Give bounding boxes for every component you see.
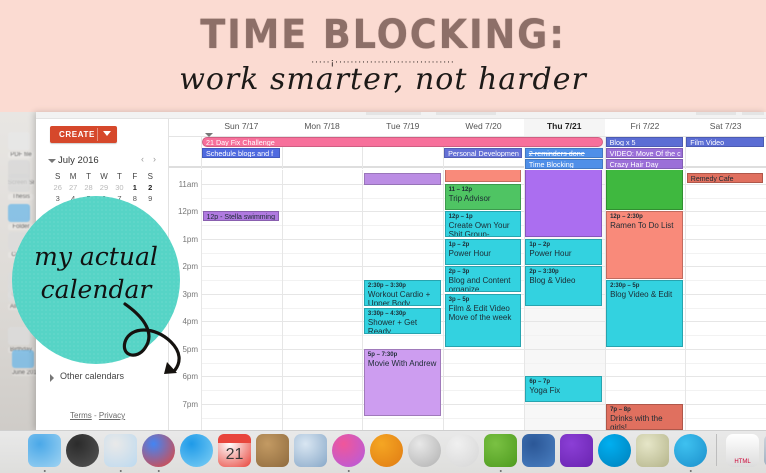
allday-event-6[interactable]: VIDEO: Move Of the c — [606, 148, 684, 158]
browser-tab-2[interactable] — [436, 112, 496, 115]
file-icon — [8, 204, 30, 222]
calendar-event-14[interactable]: 6p – 7pYoga Fix — [525, 376, 602, 402]
all-day-section[interactable]: 21 Day Fix ChallengeBlog x 5Film VideoSc… — [169, 136, 766, 168]
photos-app-icon[interactable] — [446, 434, 479, 467]
browser-tab-4[interactable] — [742, 112, 764, 115]
event-time: 11 – 12p — [449, 186, 519, 194]
calendar-event-15[interactable] — [606, 170, 683, 210]
contacts-icon[interactable] — [256, 434, 289, 467]
day-header-3[interactable]: Wed 7/20 — [443, 121, 524, 134]
allday-event-5[interactable]: 2 reminders done — [525, 148, 603, 158]
day-header-row: Sun 7/17Mon 7/18Tue 7/19Wed 7/20Thu 7/21… — [169, 119, 766, 136]
hour-gridline — [201, 349, 766, 350]
dock-running-indicator — [119, 470, 122, 473]
terms-link[interactable]: Terms — [70, 411, 92, 420]
event-title: Movie With Andrew — [368, 359, 438, 368]
mini-day-cell[interactable]: 28 — [81, 182, 96, 193]
mini-day-cell[interactable]: 2 — [143, 182, 158, 193]
allday-event-1[interactable]: Blog x 5 — [606, 137, 684, 147]
half-hour-gridline — [201, 363, 766, 364]
mini-weekday-1: M — [65, 171, 80, 182]
dock-running-indicator — [689, 470, 692, 473]
desktop-file-label: June 2016 — [12, 370, 38, 376]
chevron-down-icon — [103, 131, 111, 136]
event-title: Trip Advisor — [449, 194, 519, 203]
day-header-1[interactable]: Mon 7/18 — [282, 121, 363, 134]
create-button-label: CREATE — [59, 130, 95, 139]
footer-links: Terms - Privacy — [70, 411, 125, 420]
day-column-divider — [685, 170, 686, 430]
finder-icon[interactable] — [28, 434, 61, 467]
banner-title: TIME BLOCKING: — [31, 12, 736, 58]
imovie-icon[interactable] — [560, 434, 593, 467]
desktop-file-icon[interactable]: June 2016 — [12, 350, 38, 382]
day-header-0[interactable]: Sun 7/17 — [201, 121, 282, 134]
browser-tab-1[interactable] — [366, 112, 421, 115]
allday-event-0[interactable]: 21 Day Fix Challenge — [202, 137, 603, 147]
calendar-event-9[interactable]: 2p – 3pBlog and Content organize — [445, 266, 522, 292]
calendar-icon[interactable]: 21 — [218, 434, 251, 467]
privacy-link[interactable]: Privacy — [99, 411, 125, 420]
html-file-icon[interactable]: HTML — [726, 434, 759, 467]
day-header-4[interactable]: Thu 7/21 — [524, 121, 605, 134]
preview-icon[interactable] — [294, 434, 327, 467]
mini-weekday-3: W — [96, 171, 111, 182]
day-column-divider — [282, 170, 283, 430]
dock-running-indicator — [43, 470, 46, 473]
event-title: Power Hour — [449, 249, 519, 258]
mini-day-cell[interactable]: 27 — [65, 182, 80, 193]
event-title: Blog & Video — [529, 276, 599, 285]
calendar-event-11[interactable] — [525, 170, 602, 237]
event-title: Power Hour — [529, 249, 599, 258]
evernote-icon[interactable] — [484, 434, 517, 467]
file-icon — [12, 350, 34, 368]
event-title: Shower + Get Ready — [368, 318, 438, 334]
event-time: 2p – 3:30p — [529, 268, 599, 276]
event-title: Yoga Fix — [529, 386, 599, 395]
itunes-icon[interactable] — [332, 434, 365, 467]
calendar-event-16[interactable]: 12p – 2:30pRamen To Do List — [606, 211, 683, 278]
event-title: Blog Video & Edit — [610, 290, 680, 299]
mini-day-cell[interactable]: 26 — [50, 182, 65, 193]
mini-week-row: 262728293012 — [50, 182, 158, 193]
time-grid[interactable]: GMT-06 11am12pm1pm2pm3pm4pm5pm6pm7pm12p … — [169, 170, 766, 430]
file-icon — [8, 327, 30, 345]
allday-event-3[interactable]: Schedule blogs and f — [202, 148, 280, 158]
hour-label-8: 7pm — [169, 400, 198, 409]
quicken-icon[interactable] — [636, 434, 669, 467]
calendar-event-2[interactable]: 2:30p – 3:30pWorkout Cardio + Upper Body — [364, 280, 441, 306]
event-time: 2:30p – 3:30p — [368, 282, 438, 290]
calendar-event-6[interactable]: 11 – 12pTrip Advisor — [445, 184, 522, 210]
chevron-right-icon[interactable] — [50, 374, 54, 382]
event-title: Film & Edit Video Move of the week — [449, 304, 519, 322]
calendar-event-7[interactable]: 12p – 1pCreate Own Your Shit Group- Prep… — [445, 211, 522, 237]
allday-event-8[interactable]: Crazy Hair Day — [606, 159, 684, 169]
dock-running-indicator — [499, 470, 502, 473]
calendar-event-0[interactable]: 12p - Stella swimming — [203, 211, 280, 221]
dock-running-indicator — [157, 470, 160, 473]
event-time: 12p – 1p — [449, 213, 519, 221]
mini-weekday-2: T — [81, 171, 96, 182]
safari-icon[interactable] — [180, 434, 213, 467]
calendar-event-4[interactable]: 5p – 7:30pMovie With Andrew — [364, 349, 441, 416]
event-time: 7p – 8p — [610, 406, 680, 414]
dock-separator — [716, 434, 717, 466]
calendar-event-19[interactable]: Remedy Cafe — [687, 173, 764, 183]
header-banner: TIME BLOCKING: ·····¡···················… — [0, 0, 766, 112]
calendar-event-8[interactable]: 1p – 2pPower Hour — [445, 239, 522, 265]
mini-weekday-6: S — [143, 171, 158, 182]
mini-calendar-header: July 2016 ‹ › — [48, 155, 160, 167]
event-title: Ramen To Do List — [610, 221, 680, 230]
event-time: 1p – 2p — [529, 241, 599, 249]
calendar-view: Sun 7/17Mon 7/18Tue 7/19Wed 7/20Thu 7/21… — [169, 119, 766, 430]
half-hour-gridline — [201, 390, 766, 391]
mini-day-cell[interactable]: 29 — [96, 182, 111, 193]
event-time: 1p – 2p — [449, 241, 519, 249]
mini-calendar-month: July 2016 — [58, 155, 99, 166]
event-time: 3p – 5p — [449, 296, 519, 304]
event-time: 3:30p – 4:30p — [368, 310, 438, 318]
calendar-event-13[interactable]: 2p – 3:30pBlog & Video — [525, 266, 602, 306]
calendar-event-18[interactable]: 7p – 8pDrinks with the girls! — [606, 404, 683, 430]
dock-running-indicator — [347, 470, 350, 473]
annotation-line-1: my actual — [12, 240, 180, 273]
next-month-button[interactable]: › — [153, 154, 156, 164]
chevron-down-icon[interactable] — [48, 159, 56, 163]
macos-dock: 21HTML — [0, 430, 766, 473]
event-title: Create Own Your Shit Group- Prepare — [449, 221, 519, 237]
mini-day-cell[interactable]: 9 — [143, 193, 158, 204]
day-header-2[interactable]: Tue 7/19 — [362, 121, 443, 134]
event-title: Drinks with the girls! — [610, 414, 680, 430]
allday-event-2[interactable]: Film Video — [686, 137, 764, 147]
annotation-arrow-icon — [115, 300, 195, 385]
event-time: 12p – 2:30p — [610, 213, 680, 221]
calendar-event-3[interactable]: 3:30p – 4:30pShower + Get Ready — [364, 308, 441, 334]
hour-gridline — [201, 376, 766, 377]
file-icon — [8, 174, 30, 192]
day-header-6[interactable]: Sat 7/23 — [685, 121, 766, 134]
file-icon — [8, 132, 30, 150]
event-title: Blog and Content organize — [449, 276, 519, 292]
event-time: 6p – 7p — [529, 378, 599, 386]
browser-tab-strip[interactable] — [36, 112, 766, 119]
calendar-event-17[interactable]: 2:30p – 5pBlog Video & Edit — [606, 280, 683, 347]
calendar-icon-header — [218, 434, 251, 443]
links-separator: - — [94, 411, 97, 420]
event-time: 2p – 3p — [449, 268, 519, 276]
mini-weekday-4: T — [112, 171, 127, 182]
mini-weekday-5: F — [127, 171, 142, 182]
day-header-5[interactable]: Fri 7/22 — [605, 121, 686, 134]
dock-file-label: HTML — [726, 459, 759, 465]
allday-event-7[interactable]: Time Blocking — [525, 159, 603, 169]
chrome-icon[interactable] — [142, 434, 175, 467]
mini-day-cell[interactable]: 30 — [112, 182, 127, 193]
calendar-event-1[interactable] — [364, 173, 441, 185]
messages-icon[interactable] — [674, 434, 707, 467]
calendar-event-5[interactable] — [445, 170, 522, 182]
dashboard-icon[interactable] — [66, 434, 99, 467]
prev-month-button[interactable]: ‹ — [141, 154, 144, 164]
create-button[interactable]: CREATE — [50, 126, 117, 143]
skype-icon[interactable] — [598, 434, 631, 467]
ibooks-icon[interactable] — [370, 434, 403, 467]
mini-weekday-0: S — [50, 171, 65, 182]
event-time: 2:30p – 5p — [610, 282, 680, 290]
calendar-event-12[interactable]: 1p – 2pPower Hour — [525, 239, 602, 265]
dock-items[interactable]: 21HTML — [28, 434, 766, 472]
event-time: 5p – 7:30p — [368, 351, 438, 359]
photos-icon[interactable] — [104, 434, 137, 467]
appstore-icon[interactable] — [408, 434, 441, 467]
hour-label-0: 11am — [169, 180, 198, 189]
hour-label-1: 12pm — [169, 207, 198, 216]
calendar-event-10[interactable]: 3p – 5pFilm & Edit Video Move of the wee… — [445, 294, 522, 348]
browser-tab-3[interactable] — [696, 112, 736, 115]
calendar-icon-day: 21 — [218, 443, 251, 467]
desktop-file-label: Thesis — [8, 194, 34, 200]
desktop-file-icon[interactable]: Thesis — [8, 174, 34, 206]
annotation-badge-text: my actual calendar — [12, 240, 180, 306]
event-title: Workout Cardio + Upper Body — [368, 290, 438, 306]
allday-event-4[interactable]: Personal Developmen — [444, 148, 522, 158]
mini-day-cell[interactable]: 1 — [127, 182, 142, 193]
day-column-divider — [201, 170, 202, 430]
desktop-file-label: PDF file — [8, 152, 34, 158]
banner-subtitle: work smarter, not harder — [0, 62, 766, 97]
create-divider — [97, 128, 98, 141]
word-icon[interactable] — [522, 434, 555, 467]
